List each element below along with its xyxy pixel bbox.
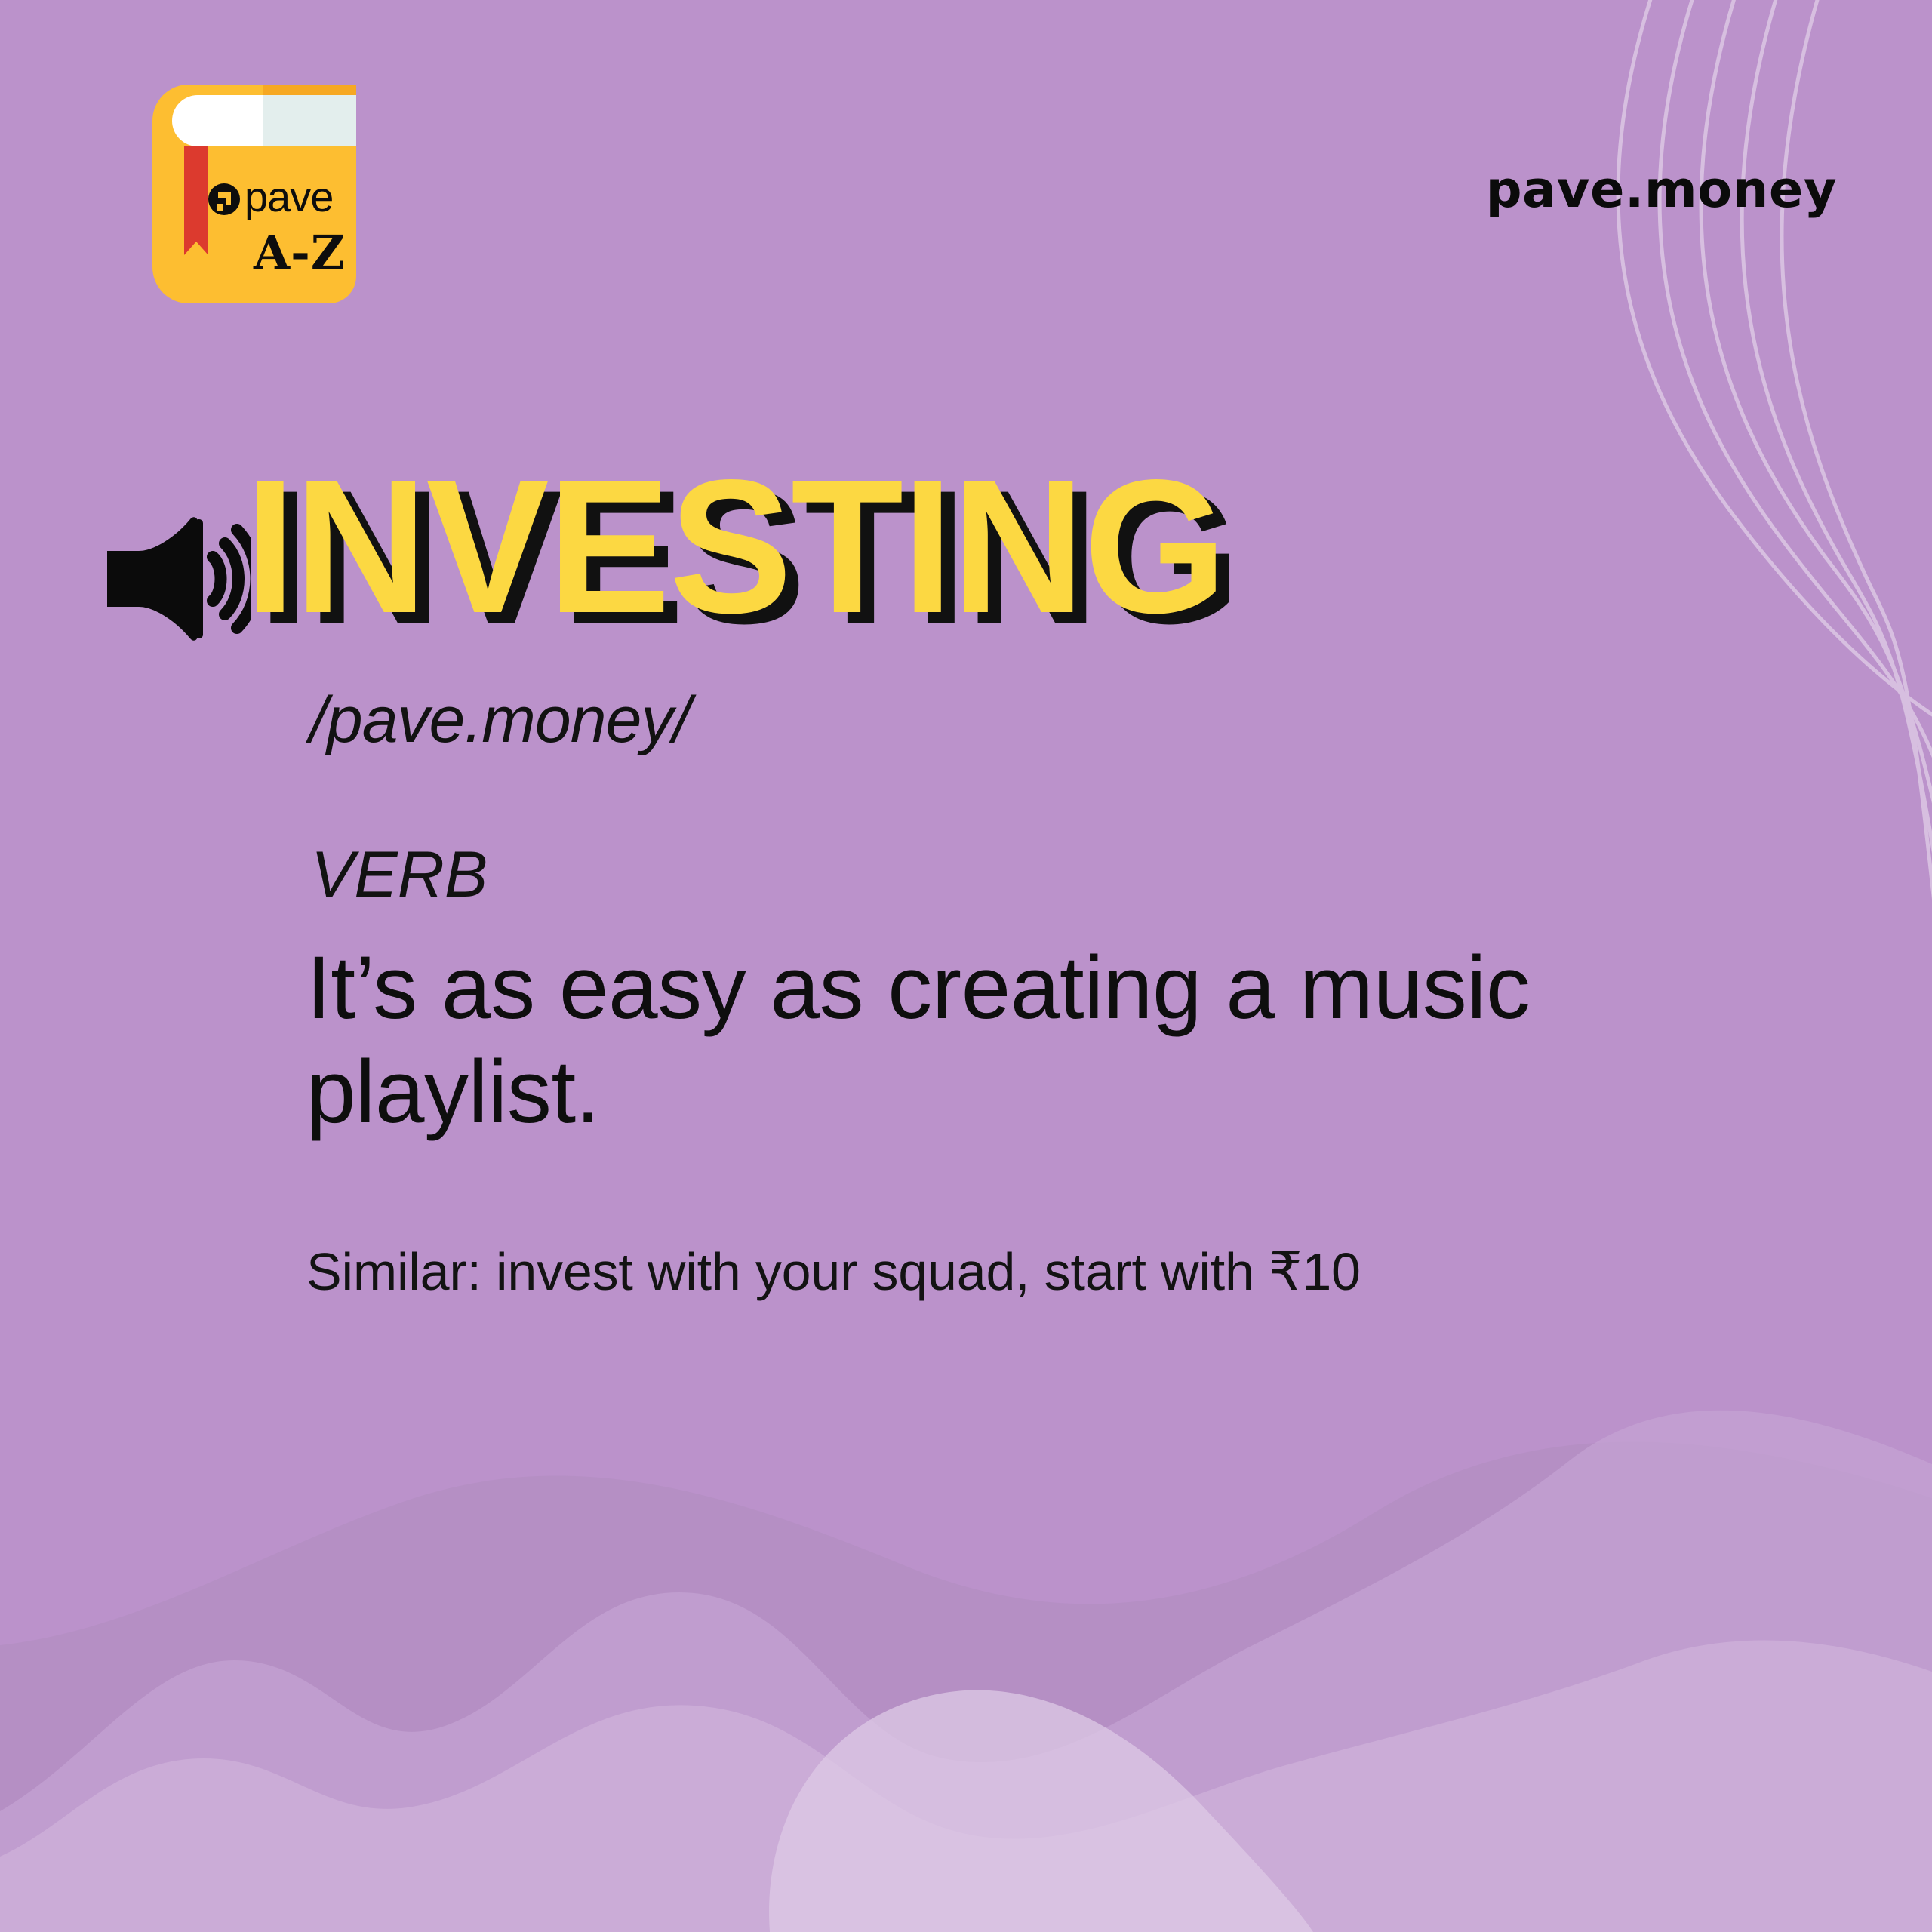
headword-row: INVESTING INVESTING <box>100 453 1256 651</box>
definition-text: It’s as easy as creating a music playlis… <box>306 936 1740 1144</box>
dictionary-book-icon: pave A-Z <box>142 74 367 314</box>
logo-series-label: A-Z <box>253 225 346 280</box>
pave-glyph-icon <box>208 183 240 215</box>
book-ribbon-icon <box>184 146 208 255</box>
speaker-volume-icon[interactable] <box>100 507 251 651</box>
dictionary-card: pave A-Z pave.money INVESTING INVESTING <box>0 0 1932 1932</box>
part-of-speech: VERB <box>311 838 488 912</box>
similar-terms: Similar: invest with your squad, start w… <box>306 1241 1361 1302</box>
logo-wordmark: pave <box>245 173 333 220</box>
pronunciation: /pave.money/ <box>309 683 690 758</box>
headword: INVESTING INVESTING <box>245 453 1256 641</box>
book-page-white <box>172 95 263 146</box>
book-page-tint <box>263 95 356 146</box>
headword-fill-text: INVESTING <box>245 453 1226 641</box>
brand-url[interactable]: pave.money <box>1486 160 1837 219</box>
